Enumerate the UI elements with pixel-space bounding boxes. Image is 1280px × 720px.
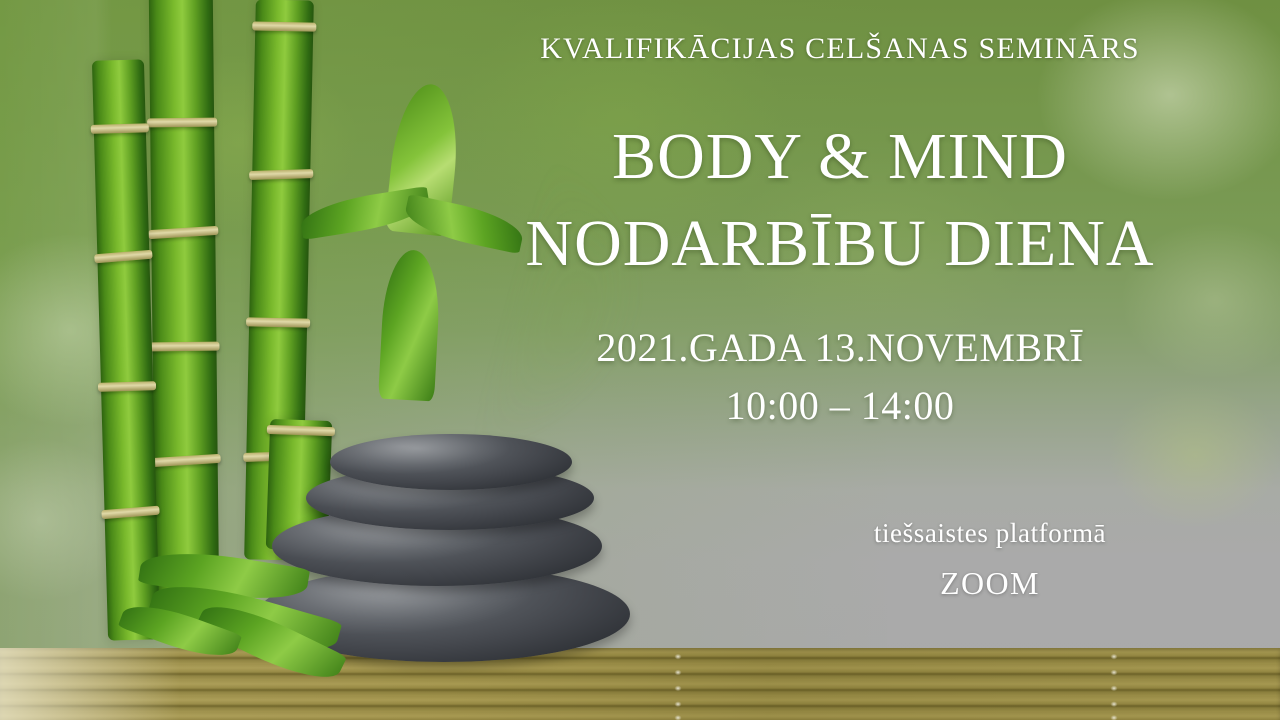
platform-name: ZOOM [760,565,1220,602]
poster-text-column: KVALIFIKĀCIJAS CELŠANAS SEMINĀRS BODY & … [470,0,1210,427]
poster-time: 10:00 – 14:00 [470,385,1210,427]
mat-highlight [0,648,180,720]
poster-title-line-2: NODARBĪBU DIENA [470,200,1210,287]
bamboo-node [98,381,156,392]
bamboo-mat [0,648,1280,720]
bamboo-node [150,454,220,467]
bamboo-node [147,118,217,128]
bamboo-stalk-middle [149,0,219,610]
platform-label: tiešsaistes platformā [760,518,1220,549]
event-poster: KVALIFIKĀCIJAS CELŠANAS SEMINĀRS BODY & … [0,0,1280,720]
bamboo-node [148,226,218,239]
zen-stone-top [330,434,572,490]
bamboo-node [267,425,335,436]
poster-date: 2021.GADA 13.NOVEMBRĪ [470,327,1210,369]
mat-string-right [1108,648,1120,720]
bamboo-node [91,123,149,134]
mat-string-left [672,648,684,720]
bamboo-node [94,250,153,264]
bamboo-node [101,506,160,520]
bamboo-node [246,317,310,327]
bamboo-node [252,21,316,31]
bamboo-node [249,169,313,180]
poster-platform-block: tiešsaistes platformā ZOOM [760,518,1220,602]
poster-kicker: KVALIFIKĀCIJAS CELŠANAS SEMINĀRS [470,32,1210,65]
poster-title-line-1: BODY & MIND [612,120,1068,193]
poster-title: BODY & MIND NODARBĪBU DIENA [470,113,1210,287]
bamboo-node [149,342,219,352]
